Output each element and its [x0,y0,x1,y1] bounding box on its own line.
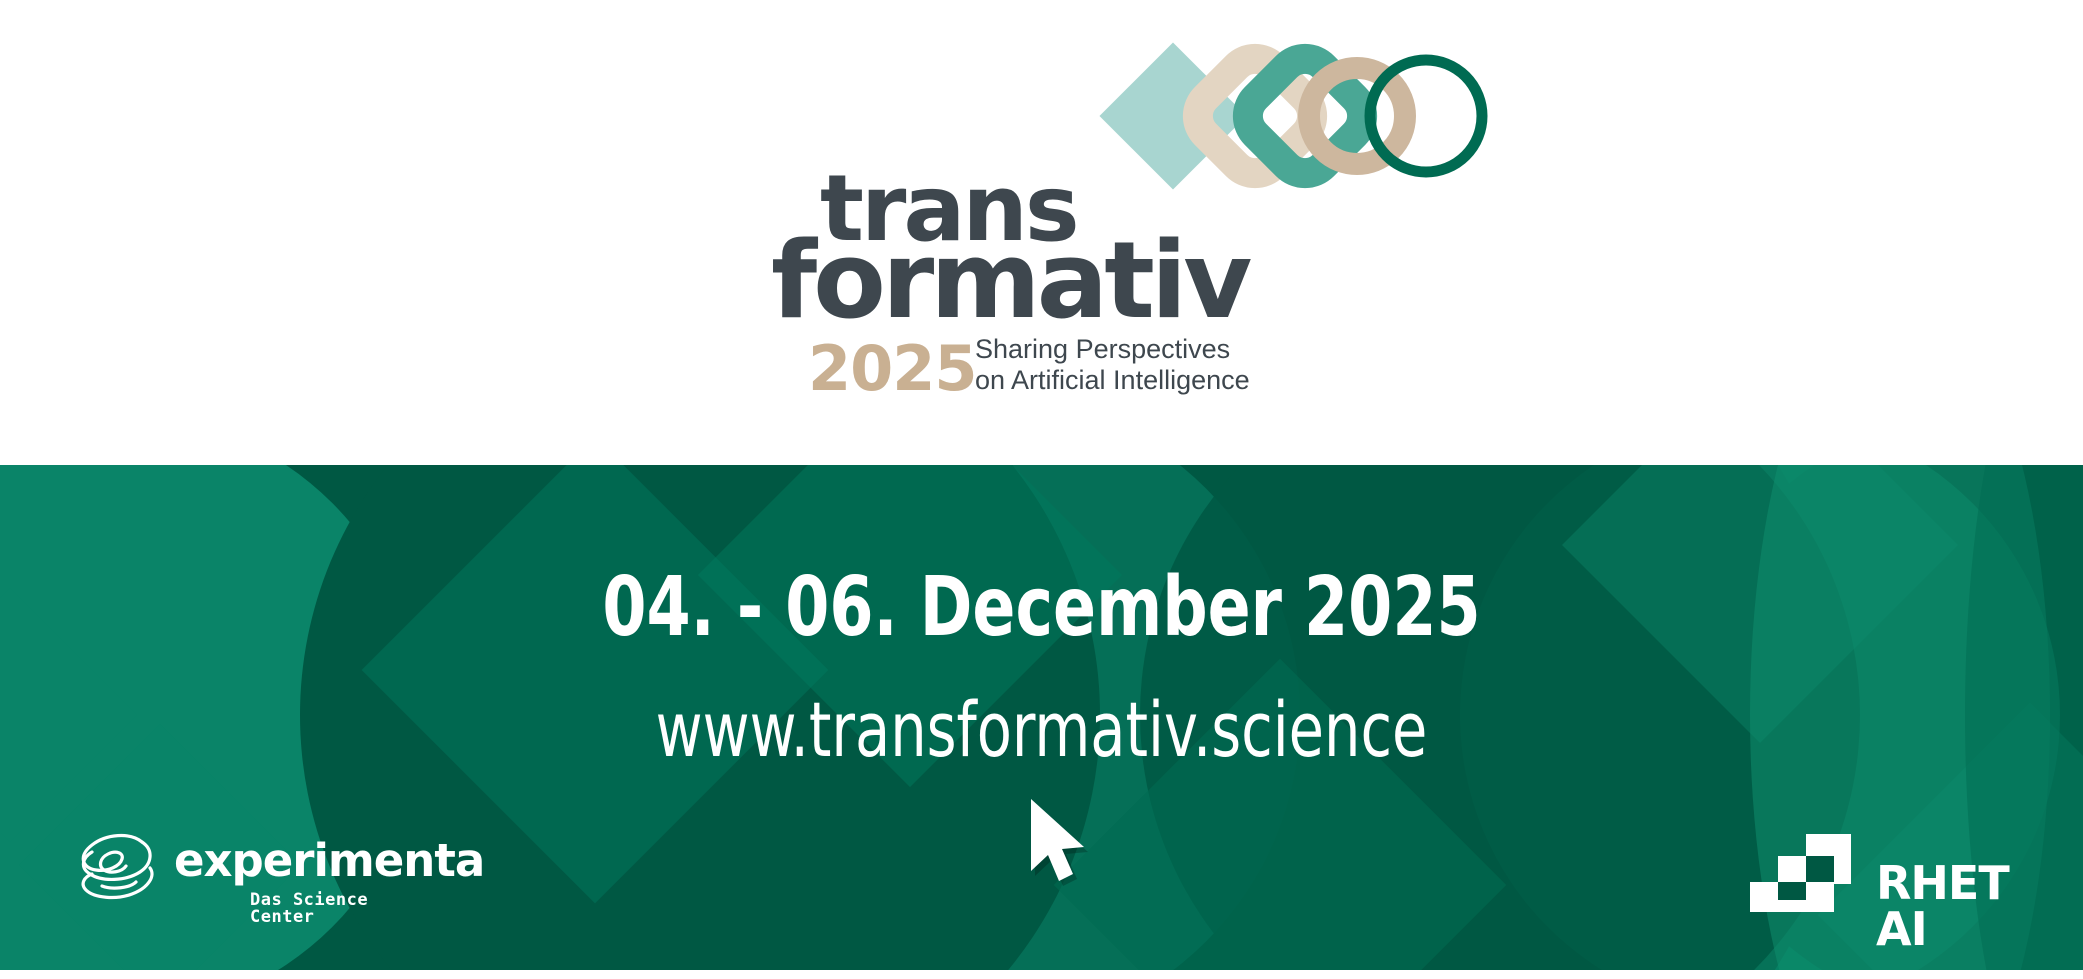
event-date: 04. - 06. December 2025 [146,560,1937,655]
top-white-band: trans formativ 2025 Sharing Perspectives… [0,0,2083,465]
transformativ-logo: trans formativ 2025 Sharing Perspectives… [770,38,1330,328]
rhet-checkerboard-icon [1748,832,1873,912]
bottom-white-strip [0,970,2083,979]
rhet-ai-logo[interactable]: RHET AI [1748,832,1998,924]
experimenta-logo[interactable]: experimenta Das Science Center [72,826,402,926]
poster-root: trans formativ 2025 Sharing Perspectives… [0,0,2083,979]
rhet-ai-wordmark: RHET AI [1876,860,2009,952]
circle-green-outline-icon [1370,60,1482,172]
logo-word-formativ: formativ [771,228,1248,334]
experimenta-subtitle: Das Science Center [250,892,402,926]
experimenta-spiral-icon [72,830,164,902]
logo-shape-cluster [1085,38,1505,218]
logo-year: 2025 [808,338,977,400]
experimenta-wordmark: experimenta [174,838,484,883]
event-website[interactable]: www.transformativ.science [167,685,1917,774]
logo-tagline: Sharing Perspectives on Artificial Intel… [975,334,1250,397]
mouse-pointer-icon [1025,795,1095,890]
